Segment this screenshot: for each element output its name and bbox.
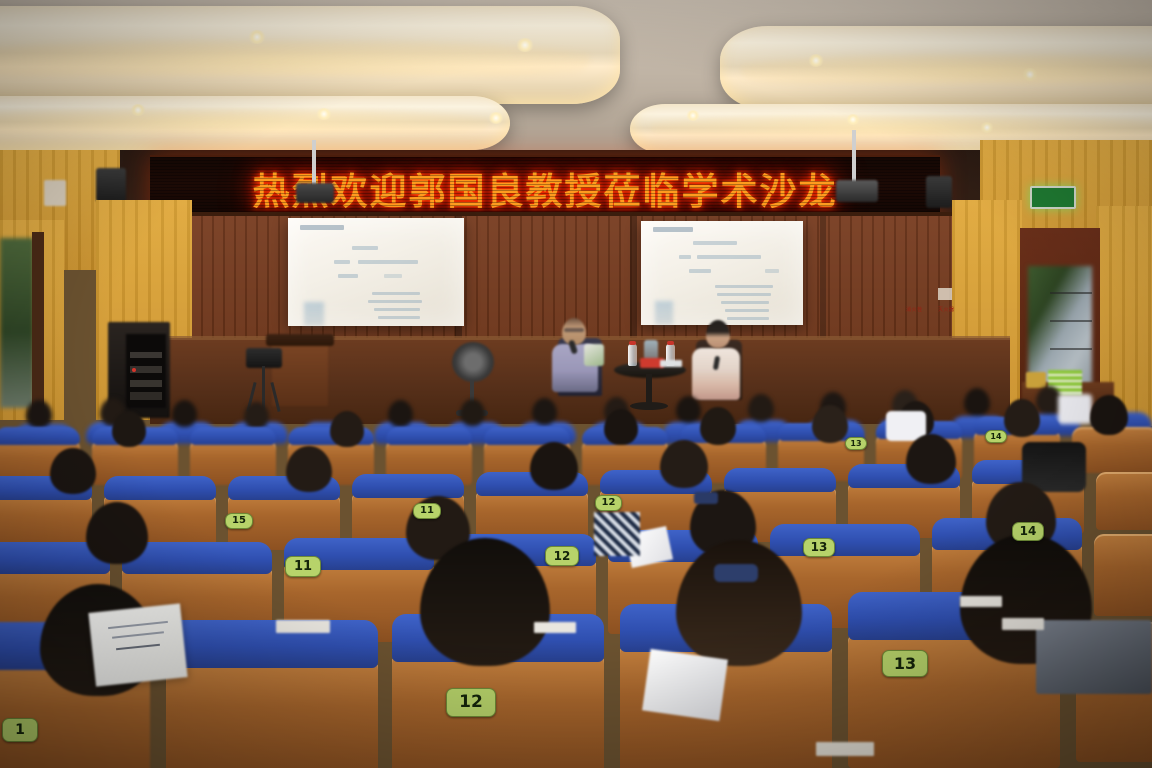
window-mullion — [1050, 348, 1092, 350]
slide-line — [693, 241, 737, 245]
slide-line — [727, 317, 769, 320]
speaker-right-head — [706, 320, 730, 348]
seat-number-plate: 12 — [545, 546, 579, 566]
seat-number-plate: 13 — [845, 437, 867, 450]
projector-mount-rod-right — [852, 130, 856, 182]
exit-sign — [1030, 186, 1076, 209]
slide-line — [334, 260, 350, 264]
downlight-icon — [130, 104, 146, 116]
seat-back — [190, 427, 276, 445]
slide-line — [717, 293, 771, 296]
seat-back — [166, 620, 378, 668]
seat-number-plate: 13 — [803, 538, 835, 557]
audience-head — [286, 446, 332, 492]
av-rack-unit — [130, 352, 162, 358]
bottle-cap — [667, 341, 674, 345]
slide-line — [352, 246, 378, 250]
seat-number-plate: 14 — [1012, 522, 1044, 541]
ceiling-cove-light-2 — [0, 108, 490, 134]
slide-decoration — [304, 302, 324, 326]
seat-number-plate: 15 — [225, 513, 253, 529]
seat-back — [770, 524, 920, 556]
slide-line — [689, 269, 711, 273]
seat-label-tag — [1002, 618, 1044, 630]
slide-line — [372, 292, 420, 295]
projector-mount-rod-left — [312, 140, 316, 186]
hair-tie — [714, 564, 758, 582]
slide-heading — [653, 227, 693, 232]
slide-line — [765, 269, 779, 273]
audience-head — [530, 442, 578, 490]
hair-clip — [694, 492, 718, 504]
downlight-icon — [686, 110, 700, 121]
document-on-table — [660, 360, 682, 367]
audience-head — [1090, 395, 1128, 435]
stage-wall-trim — [190, 212, 960, 216]
slide-line — [715, 285, 773, 288]
downlight-icon — [980, 122, 994, 133]
audience-head — [700, 407, 736, 445]
audience-head — [50, 448, 96, 494]
slide-line — [697, 255, 761, 259]
fire-equipment-sign-1: 消火栓 — [906, 306, 923, 313]
lecture-hall-photo: 热烈欢迎郭国良教授莅临学术沙龙 消火栓 灭火器 — [0, 0, 1152, 768]
wall-speaker-left — [96, 168, 126, 202]
slide-line — [378, 316, 420, 319]
slide-heading — [300, 225, 344, 230]
ceiling-cove-light-3 — [740, 54, 1152, 84]
wall-panel-left — [44, 180, 66, 206]
seat-front — [1096, 472, 1152, 530]
audience-head — [112, 411, 146, 447]
wall-notice — [938, 288, 952, 300]
left-projection-screen — [288, 218, 464, 326]
ceiling-projector-left — [296, 183, 334, 203]
seat-label-tag — [960, 596, 1002, 607]
slide-line — [384, 274, 402, 278]
seat-number-plate: 14 — [985, 430, 1007, 443]
seat-back — [352, 474, 464, 498]
seat-back — [386, 427, 472, 445]
wall-seam — [820, 216, 826, 342]
seat-front — [166, 658, 378, 768]
ceiling-projector-right — [836, 180, 878, 202]
speaker-left-glasses — [564, 328, 584, 332]
seat-number-plate: 12 — [595, 495, 622, 511]
seat-number-plate: 11 — [285, 556, 321, 577]
laptop — [1036, 620, 1152, 694]
document-held — [584, 344, 604, 366]
seat-label-tag — [276, 620, 330, 633]
ceiling-cove-light-1 — [0, 40, 590, 76]
fire-equipment-sign-2: 灭火器 — [938, 306, 955, 313]
window-mullion — [1050, 320, 1092, 322]
seat-label-tag — [816, 742, 874, 756]
audience-head — [86, 502, 148, 564]
floor-fan — [452, 342, 494, 382]
video-camera — [246, 348, 282, 368]
right-projection-screen — [641, 221, 803, 325]
slide-line — [374, 308, 420, 311]
seat-back — [104, 476, 216, 500]
audience-head — [964, 388, 990, 416]
audience-head — [812, 405, 848, 443]
downlight-icon — [1022, 68, 1038, 81]
seat-number-plate: 1 — [2, 718, 38, 742]
slide-decoration — [655, 301, 673, 325]
wall-speaker-right — [926, 176, 952, 208]
audience-head — [906, 434, 956, 484]
ceiling-cove-light-4 — [650, 114, 1152, 138]
seat-front — [392, 652, 604, 768]
downlight-icon — [846, 114, 860, 125]
av-rack-led — [132, 368, 136, 372]
podium-top — [266, 334, 334, 346]
slide-line — [338, 274, 358, 278]
audience-head — [330, 411, 364, 447]
audience-head — [604, 409, 638, 445]
banner-text: 热烈欢迎郭国良教授莅临学术沙龙 — [253, 161, 838, 215]
audience-row-foreground — [0, 600, 1152, 768]
downlight-icon — [316, 108, 332, 120]
audience-head — [1004, 399, 1040, 437]
water-bottle — [628, 344, 637, 366]
slide-line — [721, 301, 769, 304]
slide-line — [368, 300, 422, 303]
downlight-icon — [516, 38, 534, 52]
wall-seam — [630, 216, 637, 342]
seat-number-plate: 13 — [882, 650, 928, 677]
seat-back — [724, 468, 836, 492]
slide-line — [725, 309, 769, 312]
window-mullion — [1050, 292, 1092, 294]
slide-line — [679, 255, 691, 259]
downlight-icon — [488, 112, 504, 124]
paper-sheet — [642, 649, 728, 721]
seat-number-plate: 11 — [413, 503, 441, 519]
seat-label-tag — [534, 622, 576, 633]
seat-number-plate: 12 — [446, 688, 496, 717]
downlight-icon — [248, 30, 266, 44]
slide-line — [358, 260, 418, 264]
bottle-cap — [629, 341, 636, 345]
audience-head — [660, 440, 708, 488]
patterned-clothing — [594, 512, 640, 556]
downlight-icon — [808, 54, 824, 67]
seat-back — [0, 427, 80, 445]
